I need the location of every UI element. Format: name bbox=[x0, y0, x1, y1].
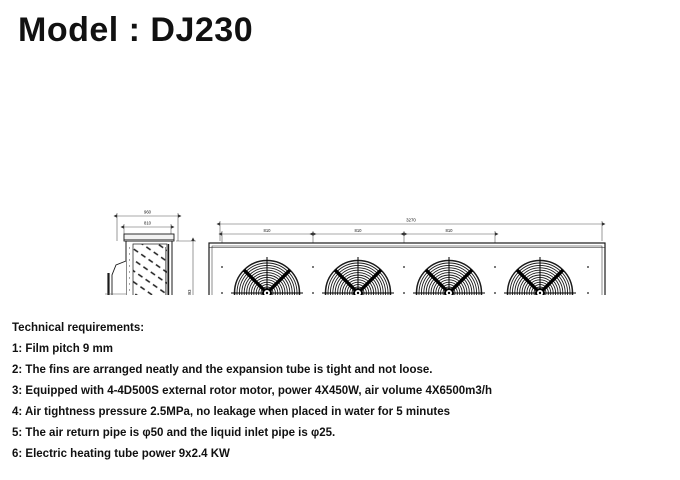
front-elevation-view: 3270 810 810 810 bbox=[203, 218, 611, 296]
technical-requirement-item: 5: The air return pipe is φ50 and the li… bbox=[12, 423, 672, 444]
front-dim-pitch2-label: 810 bbox=[355, 228, 363, 233]
page-title: Model : DJ230 bbox=[18, 8, 418, 52]
technical-requirement-item: 4: Air tightness pressure 2.5MPa, no lea… bbox=[12, 402, 672, 423]
side-dim-393: 393 bbox=[176, 241, 196, 295]
side-coil-fin-block bbox=[133, 244, 167, 295]
side-top-flange bbox=[124, 234, 174, 241]
technical-requirement-item: 6: Electric heating tube power 9x2.4 KW bbox=[12, 444, 672, 465]
side-tube-ends bbox=[129, 245, 133, 295]
front-dim-pitch1-label: 810 bbox=[264, 228, 272, 233]
front-dim-overall-3270: 3270 bbox=[220, 218, 602, 242]
technical-requirement-item: 2: The fins are arranged neatly and the … bbox=[12, 360, 672, 381]
side-section-view: 960 810 bbox=[105, 210, 196, 296]
technical-requirement-item: 1: Film pitch 9 mm bbox=[12, 339, 672, 360]
technical-requirement-item: 3: Equipped with 4-4D500S external rotor… bbox=[12, 381, 672, 402]
technical-requirements-heading: Technical requirements: bbox=[12, 318, 672, 339]
front-dim-pitch3-label: 810 bbox=[446, 228, 454, 233]
title-block: Model : DJ230 bbox=[18, 8, 418, 56]
side-dim-960-label: 960 bbox=[144, 210, 152, 215]
side-fan-shroud bbox=[105, 261, 126, 295]
side-dim-810-label: 810 bbox=[144, 221, 152, 226]
drawing-canvas: 960 810 bbox=[0, 95, 680, 295]
side-dim-393-label: 393 bbox=[187, 289, 192, 295]
front-dim-pitches: 810 810 810 bbox=[222, 228, 495, 243]
technical-drawing: 960 810 bbox=[0, 95, 680, 295]
technical-requirements-block: Technical requirements: 1: Film pitch 9 … bbox=[12, 318, 672, 465]
front-dim-3270-label: 3270 bbox=[406, 218, 416, 223]
